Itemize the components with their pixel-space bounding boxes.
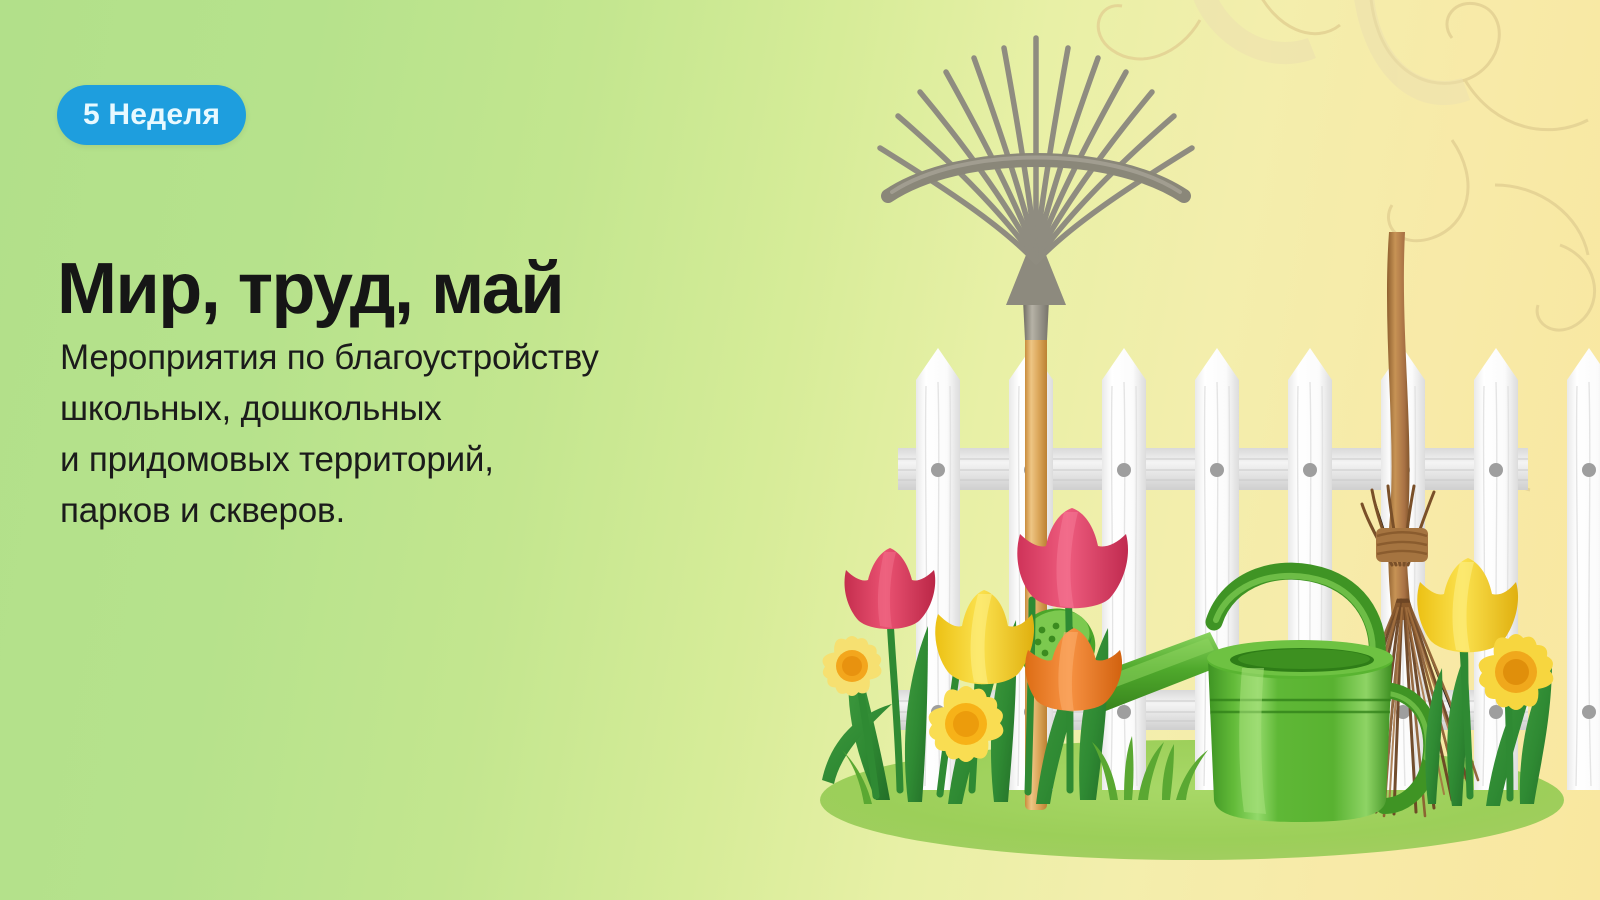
subtitle-text: Мероприятия по благоустройству школьных,… xyxy=(60,332,850,536)
garden-illustration xyxy=(780,0,1600,900)
subtitle-line-3: и придомовых территорий, xyxy=(60,434,850,485)
subtitle-line-2: школьных, дошкольных xyxy=(60,383,850,434)
daffodil-left xyxy=(820,633,885,698)
flower-cluster-left xyxy=(820,508,1128,804)
week-badge: 5 Неделя xyxy=(57,85,246,145)
promo-banner: 5 Неделя Мир, труд, май Мероприятия по б… xyxy=(0,0,1600,900)
week-badge-label: 5 Неделя xyxy=(83,98,220,132)
subtitle-line-4: парков и скверов. xyxy=(60,485,850,536)
subtitle-line-1: Мероприятия по благоустройству xyxy=(60,332,850,383)
page-title: Мир, труд, май xyxy=(57,253,563,325)
